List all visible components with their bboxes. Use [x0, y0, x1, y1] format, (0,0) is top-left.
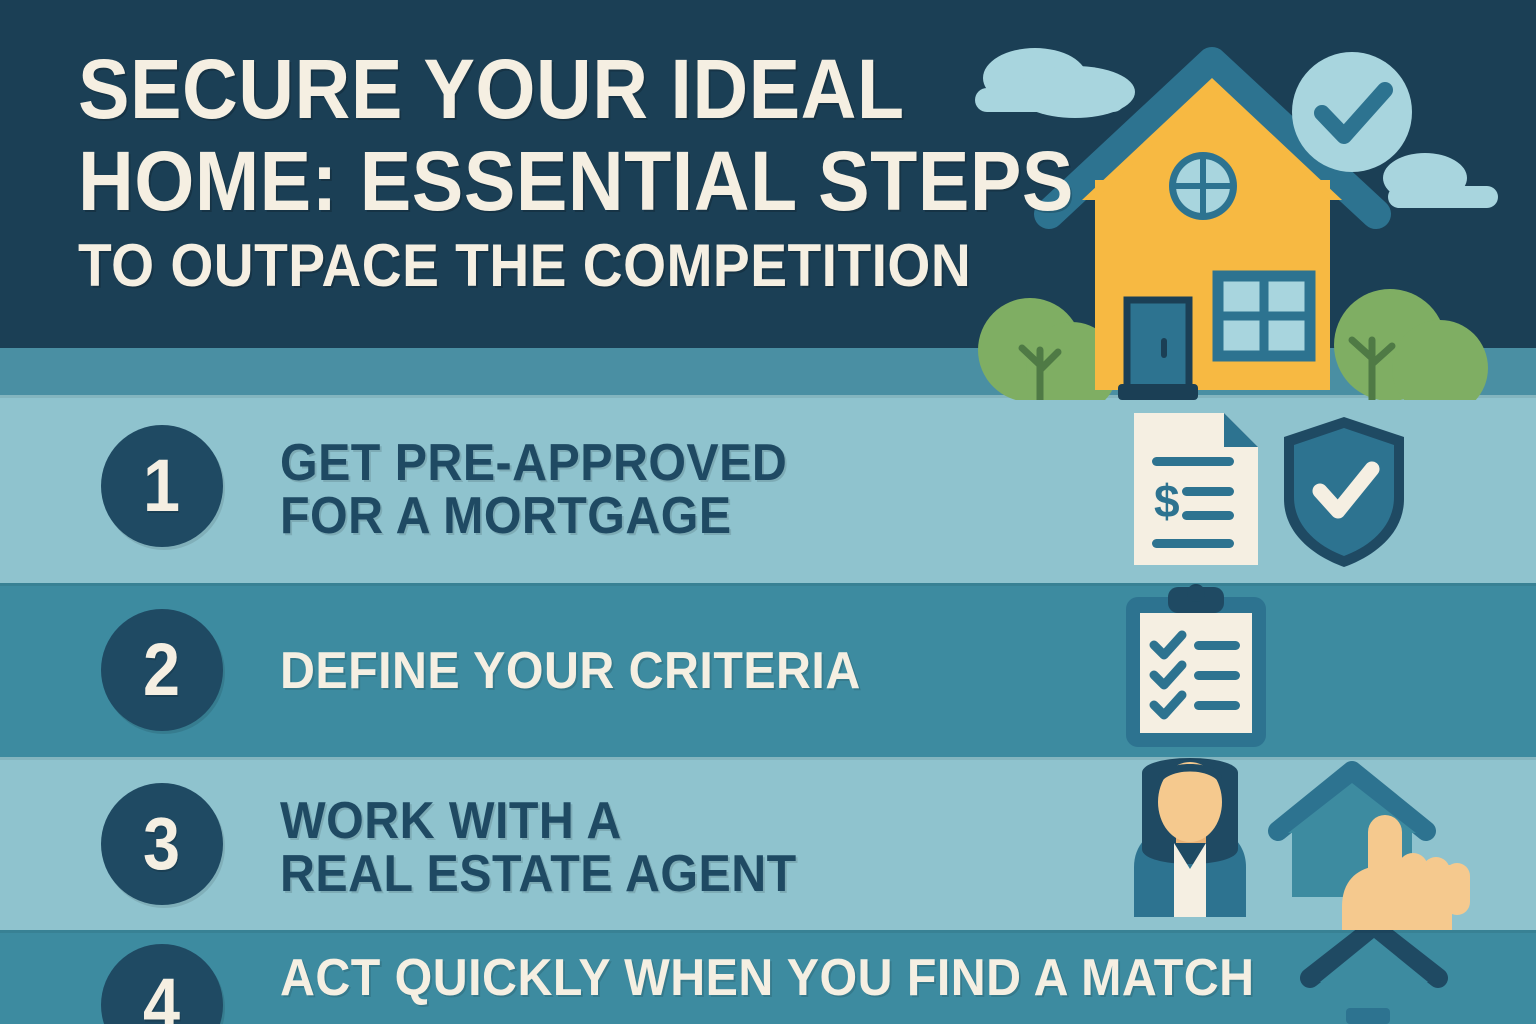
title-line-3: TO OUTPACE THE COMPETITION — [78, 237, 961, 296]
page-title: SECURE YOUR IDEAL HOME: ESSENTIAL STEPS … — [78, 48, 1038, 295]
document-dollar-icon: $ — [1134, 413, 1258, 565]
step-row-4[interactable]: 4 ACT QUICKLY WHEN YOU FIND A MATCH — [0, 930, 1536, 1024]
step-number-1: 1 — [143, 449, 180, 523]
step-row-3[interactable]: 3 WORK WITH A REAL ESTATE AGENT — [0, 757, 1536, 930]
clipboard-checklist-icon — [1126, 584, 1266, 747]
shield-check-icon — [1284, 417, 1404, 567]
infographic-poster: SECURE YOUR IDEAL HOME: ESSENTIAL STEPS … — [0, 0, 1536, 1024]
step-4-icons — [1216, 930, 1536, 1024]
step-number-2: 2 — [143, 633, 180, 707]
step-number-badge-4: 4 — [101, 944, 223, 1024]
step-row-1[interactable]: 1 GET PRE-APPROVED FOR A MORTGAGE $ — [0, 395, 1536, 583]
cloud-icon — [1383, 153, 1498, 208]
step-label-1: GET PRE-APPROVED FOR A MORTGAGE — [280, 437, 787, 543]
step-number-badge-1: 1 — [101, 425, 223, 547]
title-line-2: HOME: ESSENTIAL STEPS — [78, 140, 961, 222]
check-badge-icon — [1292, 52, 1412, 172]
step-label-4: ACT QUICKLY WHEN YOU FIND A MATCH — [280, 952, 1254, 1005]
bush-icon — [1334, 289, 1488, 400]
step-label-2: DEFINE YOUR CRITERIA — [280, 645, 861, 698]
step-number-3: 3 — [143, 807, 180, 881]
step-number-badge-3: 3 — [101, 783, 223, 905]
step-3-icons — [1116, 757, 1536, 930]
step-2-icons — [1116, 583, 1536, 757]
step-1-icons: $ — [1116, 395, 1536, 583]
title-line-1: SECURE YOUR IDEAL — [78, 48, 961, 130]
house-roof-icon — [1310, 930, 1438, 1024]
svg-text:$: $ — [1154, 475, 1180, 527]
step-label-3: WORK WITH A REAL ESTATE AGENT — [280, 795, 797, 901]
agent-person-icon — [1134, 758, 1246, 917]
step-number-badge-2: 2 — [101, 609, 223, 731]
step-number-4: 4 — [143, 968, 180, 1024]
step-row-2[interactable]: 2 DEFINE YOUR CRITERIA — [0, 583, 1536, 757]
